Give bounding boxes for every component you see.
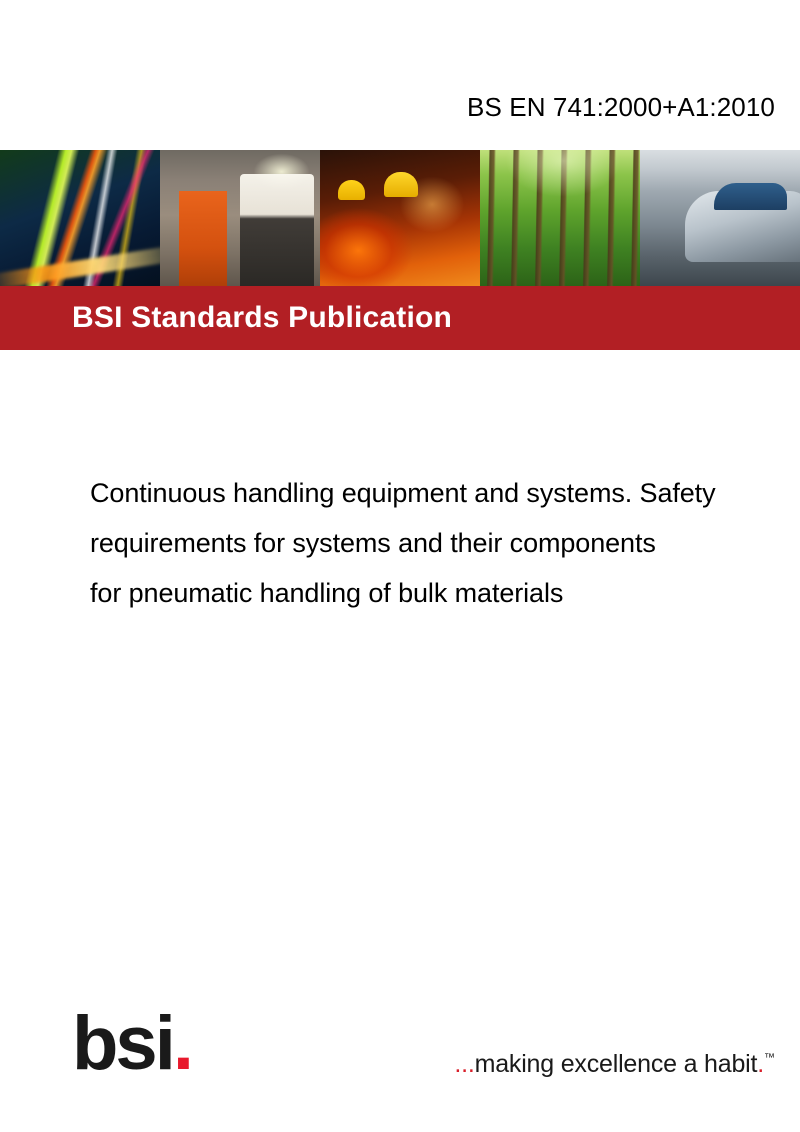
photo-panel-warehouse — [160, 150, 320, 286]
trademark-symbol: ™ — [764, 1052, 775, 1064]
document-title: Continuous handling equipment and system… — [90, 468, 800, 618]
standard-number: BS EN 741:2000+A1:2010 — [467, 92, 775, 123]
bsi-logo: bsi. — [72, 1006, 242, 1082]
bsi-tagline: ...making excellence a habit.™ — [454, 1050, 775, 1079]
tagline-ellipsis: ... — [454, 1050, 474, 1078]
tagline-text: making excellence a habit — [475, 1050, 758, 1078]
title-line-3: for pneumatic handling of bulk materials — [90, 568, 800, 618]
photo-panel-firefighters — [320, 150, 480, 286]
title-line-1: Continuous handling equipment and system… — [90, 468, 800, 518]
title-line-2: requirements for systems and their compo… — [90, 518, 800, 568]
photo-panel-car-factory — [640, 150, 800, 286]
bsi-logo-letters: bsi — [72, 1001, 173, 1086]
bsi-logo-dot: . — [173, 1001, 191, 1086]
photo-panel-forest — [480, 150, 640, 286]
publication-banner: BSI Standards Publication — [0, 286, 800, 350]
publication-banner-label: BSI Standards Publication — [72, 301, 452, 335]
photo-panel-light-trails — [0, 150, 160, 286]
tagline-period: . — [757, 1050, 764, 1078]
bsi-logo-wordmark: bsi. — [72, 1006, 242, 1082]
photo-strip — [0, 150, 800, 286]
